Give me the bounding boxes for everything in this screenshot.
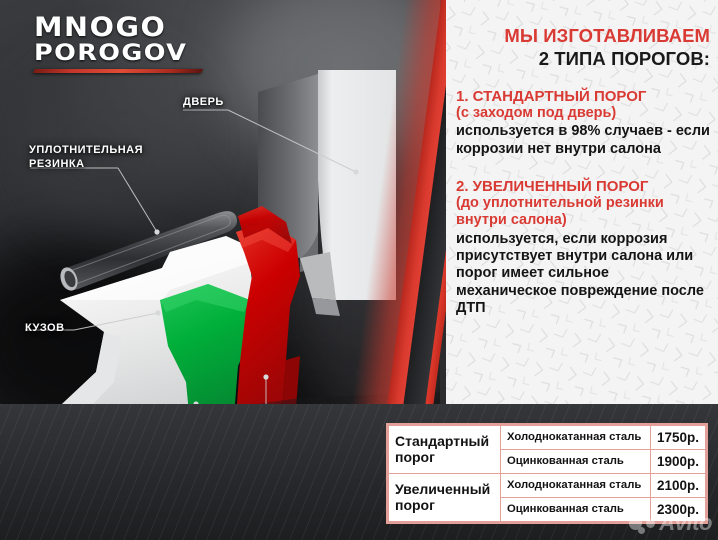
headline-secondary: 2 ТИПА ПОРОГОВ: <box>456 49 712 69</box>
advertisement-image: ДВЕРЬ УПЛОТНИТЕЛЬНАЯ РЕЗИНКА КУЗОВ СТАНД… <box>0 0 718 540</box>
headline-primary: МЫ ИЗГОТАВЛИВАЕМ <box>456 26 712 46</box>
label-seal-rubber: УПЛОТНИТЕЛЬНАЯ РЕЗИНКА <box>29 144 143 172</box>
table-cell-category: Стандартный порог <box>389 426 501 474</box>
table-row: Увеличенный порог Холоднокатанная сталь … <box>389 474 706 498</box>
table-cell-price: 2300р. <box>650 498 705 522</box>
table-cell-price: 1750р. <box>650 426 705 450</box>
price-table: Стандартный порог Холоднокатанная сталь … <box>386 423 708 524</box>
table-cell-material: Оцинкованная сталь <box>501 498 651 522</box>
label-body: КУЗОВ <box>25 322 65 336</box>
table-cell-price: 1900р. <box>650 450 705 474</box>
block-subtitle: (до уплотнительной резинки внутри салона… <box>456 195 712 229</box>
table-row: Стандартный порог Холоднокатанная сталь … <box>389 426 706 450</box>
info-block-extended: 2. УВЕЛИЧЕННЫЙ ПОРОГ (до уплотнительной … <box>456 178 712 317</box>
block-subtitle: (с заходом под дверь) <box>456 105 712 122</box>
block-body: используется в 98% случаев - если корроз… <box>456 123 712 158</box>
block-title: 2. УВЕЛИЧЕННЫЙ ПОРОГ <box>456 178 712 195</box>
block-title: 1. СТАНДАРТНЫЙ ПОРОГ <box>456 88 712 105</box>
brand-logo-line2: POROGOV <box>34 43 237 65</box>
brand-logo-line1: MNOGO <box>34 14 219 41</box>
label-door: ДВЕРЬ <box>183 96 224 110</box>
table-cell-price: 2100р. <box>650 474 705 498</box>
block-body: используется, если коррозия присутствует… <box>456 231 712 318</box>
table-cell-material: Оцинкованная сталь <box>501 450 651 474</box>
brand-logo: MNOGO POROGOV <box>34 14 209 73</box>
info-block-standard: 1. СТАНДАРТНЫЙ ПОРОГ (с заходом под двер… <box>456 88 712 158</box>
brand-logo-underline <box>33 69 203 73</box>
table-cell-material: Холоднокатанная сталь <box>501 426 651 450</box>
table-cell-material: Холоднокатанная сталь <box>501 474 651 498</box>
table-cell-category: Увеличенный порог <box>389 474 501 522</box>
